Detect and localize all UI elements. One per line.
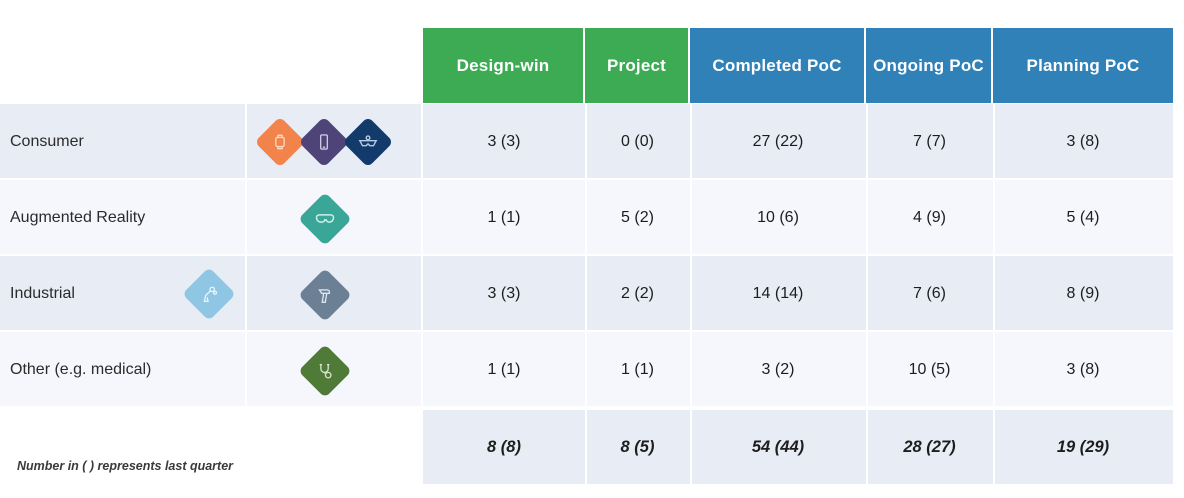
cell-value: 3 (3)	[488, 285, 521, 303]
column-header-label: Design-win	[457, 56, 550, 76]
row-label-consumer: Consumer	[0, 104, 245, 180]
cell-value: 2 (2)	[621, 285, 654, 303]
row-label-industrial: Industrial	[0, 256, 180, 332]
column-header-design-win[interactable]: Design-win	[423, 28, 585, 103]
total-value: 8 (5)	[621, 438, 655, 457]
cell-value: 10 (5)	[909, 361, 951, 379]
cell-value: 4 (9)	[913, 209, 946, 227]
data-cell: 3 (8)	[993, 104, 1173, 180]
data-cell: 3 (3)	[423, 256, 585, 332]
column-header-label: Completed PoC	[712, 56, 841, 76]
cell-value: 3 (2)	[762, 361, 795, 379]
data-cell: 1 (1)	[423, 332, 585, 408]
data-cell: 7 (6)	[866, 256, 993, 332]
column-header-project[interactable]: Project	[585, 28, 690, 103]
cell-value: 8 (9)	[1067, 285, 1100, 303]
total-cell: 28 (27)	[866, 410, 993, 484]
row-icons-consumer	[262, 122, 422, 166]
data-cell: 14 (14)	[690, 256, 866, 332]
data-cell: 5 (2)	[585, 180, 690, 256]
total-value: 28 (27)	[903, 438, 955, 457]
cell-value: 3 (8)	[1067, 361, 1100, 379]
total-cell: 19 (29)	[993, 410, 1173, 484]
column-header-label: Ongoing PoC	[873, 56, 984, 76]
vr-headset-icon	[343, 117, 394, 168]
data-cell: 27 (22)	[690, 104, 866, 180]
row-label-text: Consumer	[10, 133, 84, 151]
data-cell: 10 (6)	[690, 180, 866, 256]
data-cell: 10 (5)	[866, 332, 993, 408]
smartphone-icon	[299, 117, 350, 168]
ar-glasses-icon	[298, 192, 352, 246]
cell-value: 14 (14)	[753, 285, 804, 303]
cell-value: 1 (1)	[488, 209, 521, 227]
cell-value: 7 (6)	[913, 285, 946, 303]
total-value: 8 (8)	[487, 438, 521, 457]
column-header-planning-poc[interactable]: Planning PoC	[993, 28, 1173, 103]
cell-value: 27 (22)	[753, 133, 804, 151]
row-icons-augmented-reality	[306, 198, 366, 242]
cell-value: 0 (0)	[621, 133, 654, 151]
data-cell: 3 (2)	[690, 332, 866, 408]
data-cell: 1 (1)	[423, 180, 585, 256]
data-cell: 4 (9)	[866, 180, 993, 256]
cell-value: 3 (8)	[1067, 133, 1100, 151]
total-value: 19 (29)	[1057, 438, 1109, 457]
cell-value: 5 (2)	[621, 209, 654, 227]
row-icons-industrial	[306, 274, 366, 318]
column-header-label: Project	[607, 56, 666, 76]
data-cell: 8 (9)	[993, 256, 1173, 332]
medical-device-icon	[298, 344, 352, 398]
data-cell: 2 (2)	[585, 256, 690, 332]
smartwatch-icon	[255, 117, 306, 168]
total-cell: 54 (44)	[690, 410, 866, 484]
data-cell: 3 (3)	[423, 104, 585, 180]
row-label-text: Industrial	[10, 285, 75, 303]
total-cell: 8 (5)	[585, 410, 690, 484]
footnote: Number in ( ) represents last quarter	[17, 459, 233, 473]
cell-value: 1 (1)	[621, 361, 654, 379]
column-header-label: Planning PoC	[1027, 56, 1140, 76]
column-header-completed-poc[interactable]: Completed PoC	[690, 28, 866, 103]
row-label-text: Augmented Reality	[10, 209, 145, 227]
cell-value: 5 (4)	[1067, 209, 1100, 227]
row-label-other: Other (e.g. medical)	[0, 332, 245, 408]
total-value: 54 (44)	[752, 438, 804, 457]
column-divider	[245, 104, 247, 408]
row-label-text: Other (e.g. medical)	[10, 361, 151, 379]
column-header-ongoing-poc[interactable]: Ongoing PoC	[866, 28, 993, 103]
data-cell: 0 (0)	[585, 104, 690, 180]
cell-value: 7 (7)	[913, 133, 946, 151]
data-cell: 5 (4)	[993, 180, 1173, 256]
cell-value: 1 (1)	[488, 361, 521, 379]
data-cell: 3 (8)	[993, 332, 1173, 408]
barcode-scanner-icon	[298, 268, 352, 322]
total-cell: 8 (8)	[423, 410, 585, 484]
cell-value: 10 (6)	[757, 209, 799, 227]
row-label-augmented-reality: Augmented Reality	[0, 180, 245, 256]
data-cell: 1 (1)	[585, 332, 690, 408]
row-icons-other	[306, 350, 366, 394]
data-cell: 7 (7)	[866, 104, 993, 180]
cell-value: 3 (3)	[488, 133, 521, 151]
